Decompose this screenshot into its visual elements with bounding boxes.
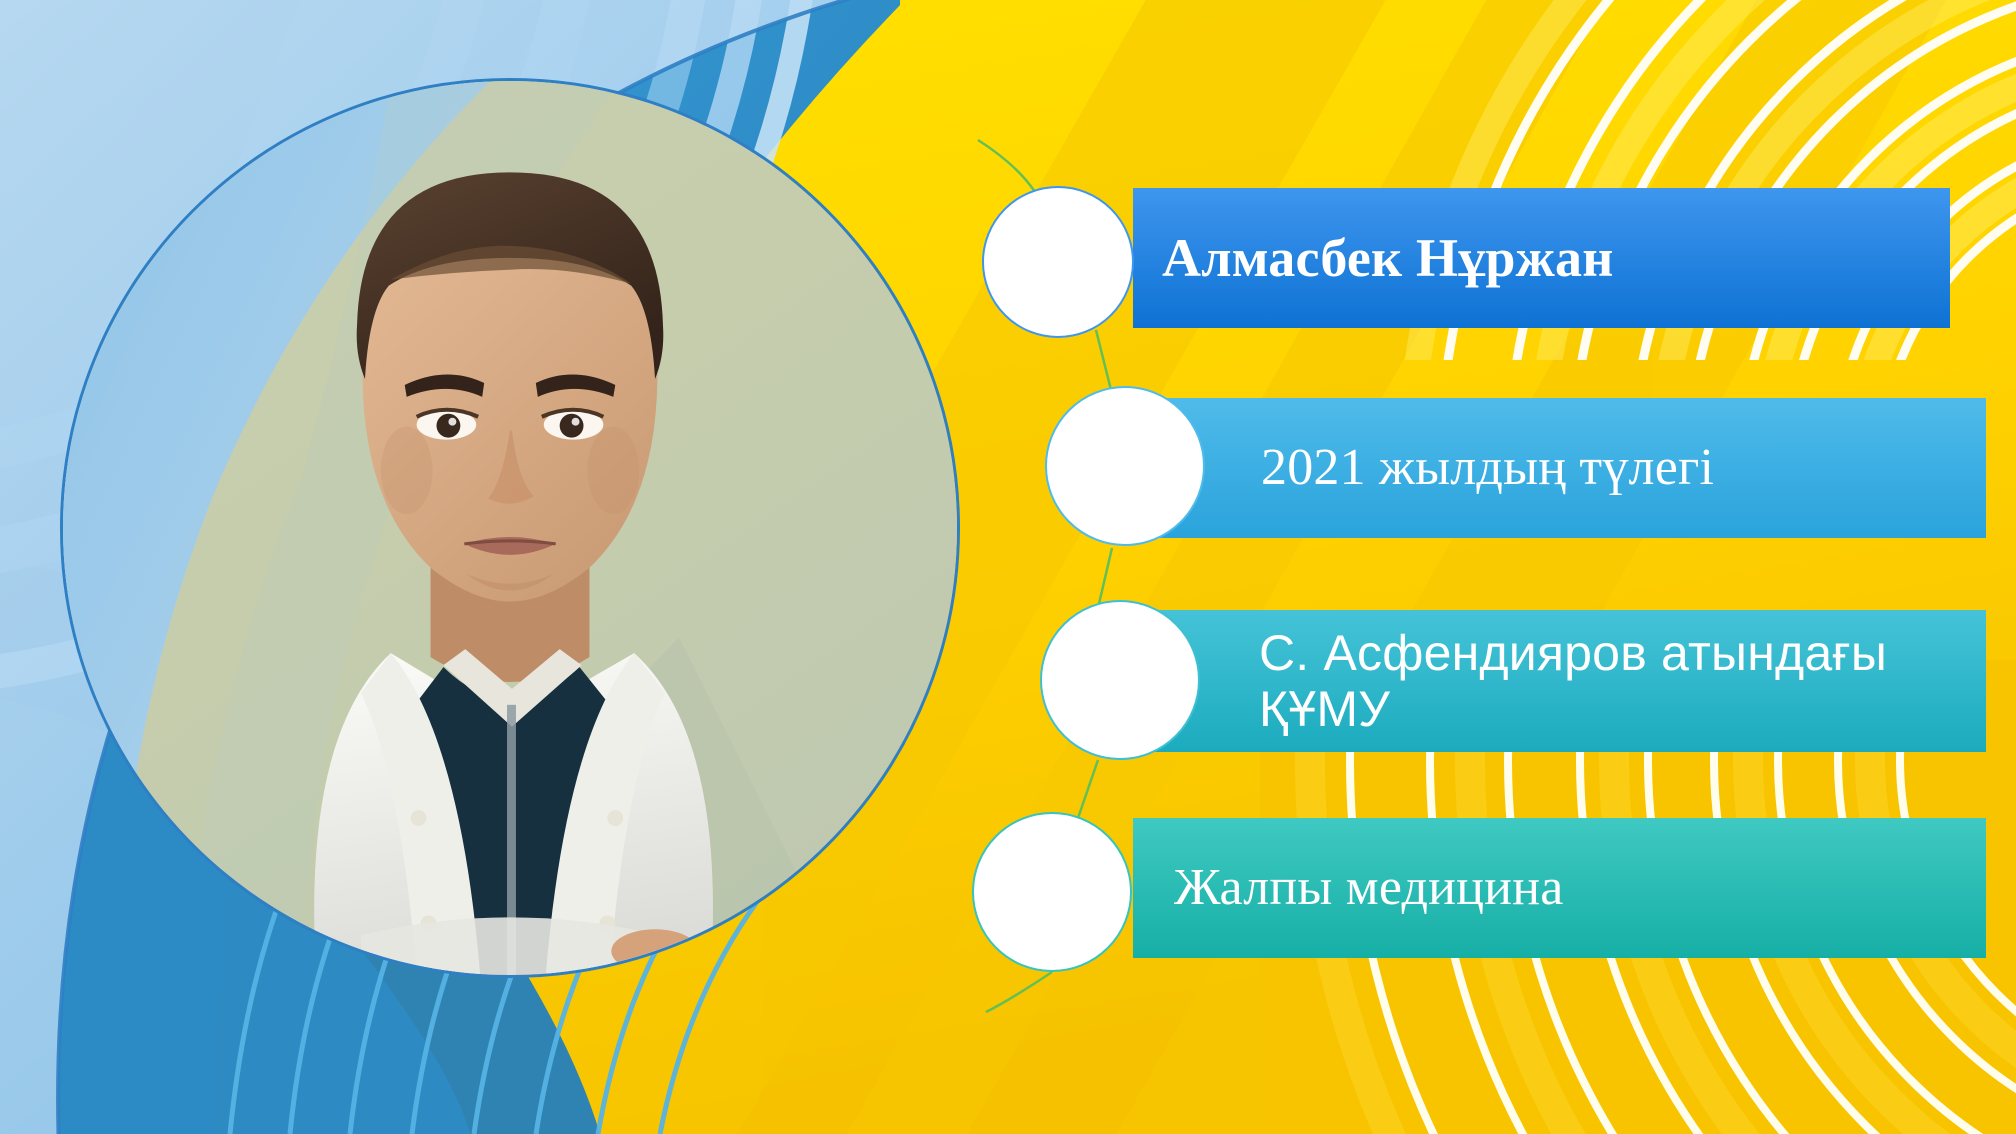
connector-1-2 xyxy=(1096,330,1112,394)
connector-lines xyxy=(0,0,2016,1134)
info-circle-speciality[interactable] xyxy=(972,812,1132,972)
info-circle-university[interactable] xyxy=(1040,600,1200,760)
connector-3-4 xyxy=(1078,760,1098,818)
connector-bottom xyxy=(986,972,1052,1012)
info-circle-name[interactable] xyxy=(982,186,1134,338)
slide-root: Алмасбек Нұржан 2021 жылдың түлегі С. Ас… xyxy=(0,0,2016,1134)
info-circle-graduation-year[interactable] xyxy=(1045,386,1205,546)
connector-2-3 xyxy=(1098,548,1112,608)
